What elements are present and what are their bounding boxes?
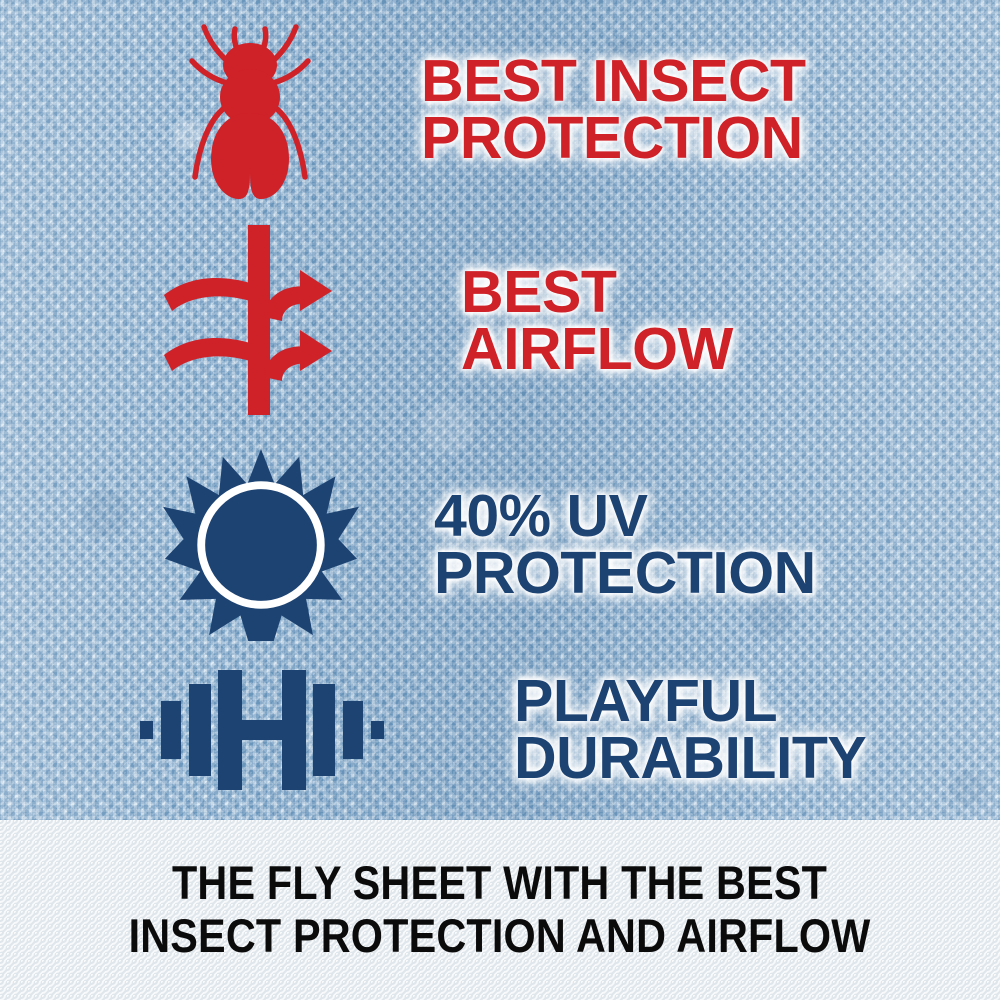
feature-label-insect-protection: BEST INSECT PROTECTION — [421, 53, 806, 166]
airflow-arrows-icon — [160, 225, 345, 415]
infographic-poster: BEST INSECT PROTECTION BEST AIRFLOW — [0, 0, 1000, 1000]
caption-headline: THE FLY SHEET WITH THE BEST INSECT PROTE… — [129, 857, 871, 962]
feature-row-airflow: BEST AIRFLOW — [160, 222, 960, 417]
feature-label-durability: PLAYFUL DURABILITY — [514, 673, 866, 786]
feature-row-uv-protection: 40% UV PROTECTION — [163, 442, 963, 647]
fly-icon — [175, 21, 325, 206]
sun-burst-icon — [163, 447, 359, 643]
feature-label-airflow: BEST AIRFLOW — [461, 264, 733, 377]
feature-row-durability: PLAYFUL DURABILITY — [140, 650, 940, 810]
feature-label-uv-protection: 40% UV PROTECTION — [434, 488, 816, 601]
feature-row-insect-protection: BEST INSECT PROTECTION — [175, 18, 975, 208]
dumbbell-icon — [140, 660, 384, 800]
caption-band: THE FLY SHEET WITH THE BEST INSECT PROTE… — [0, 820, 1000, 1000]
